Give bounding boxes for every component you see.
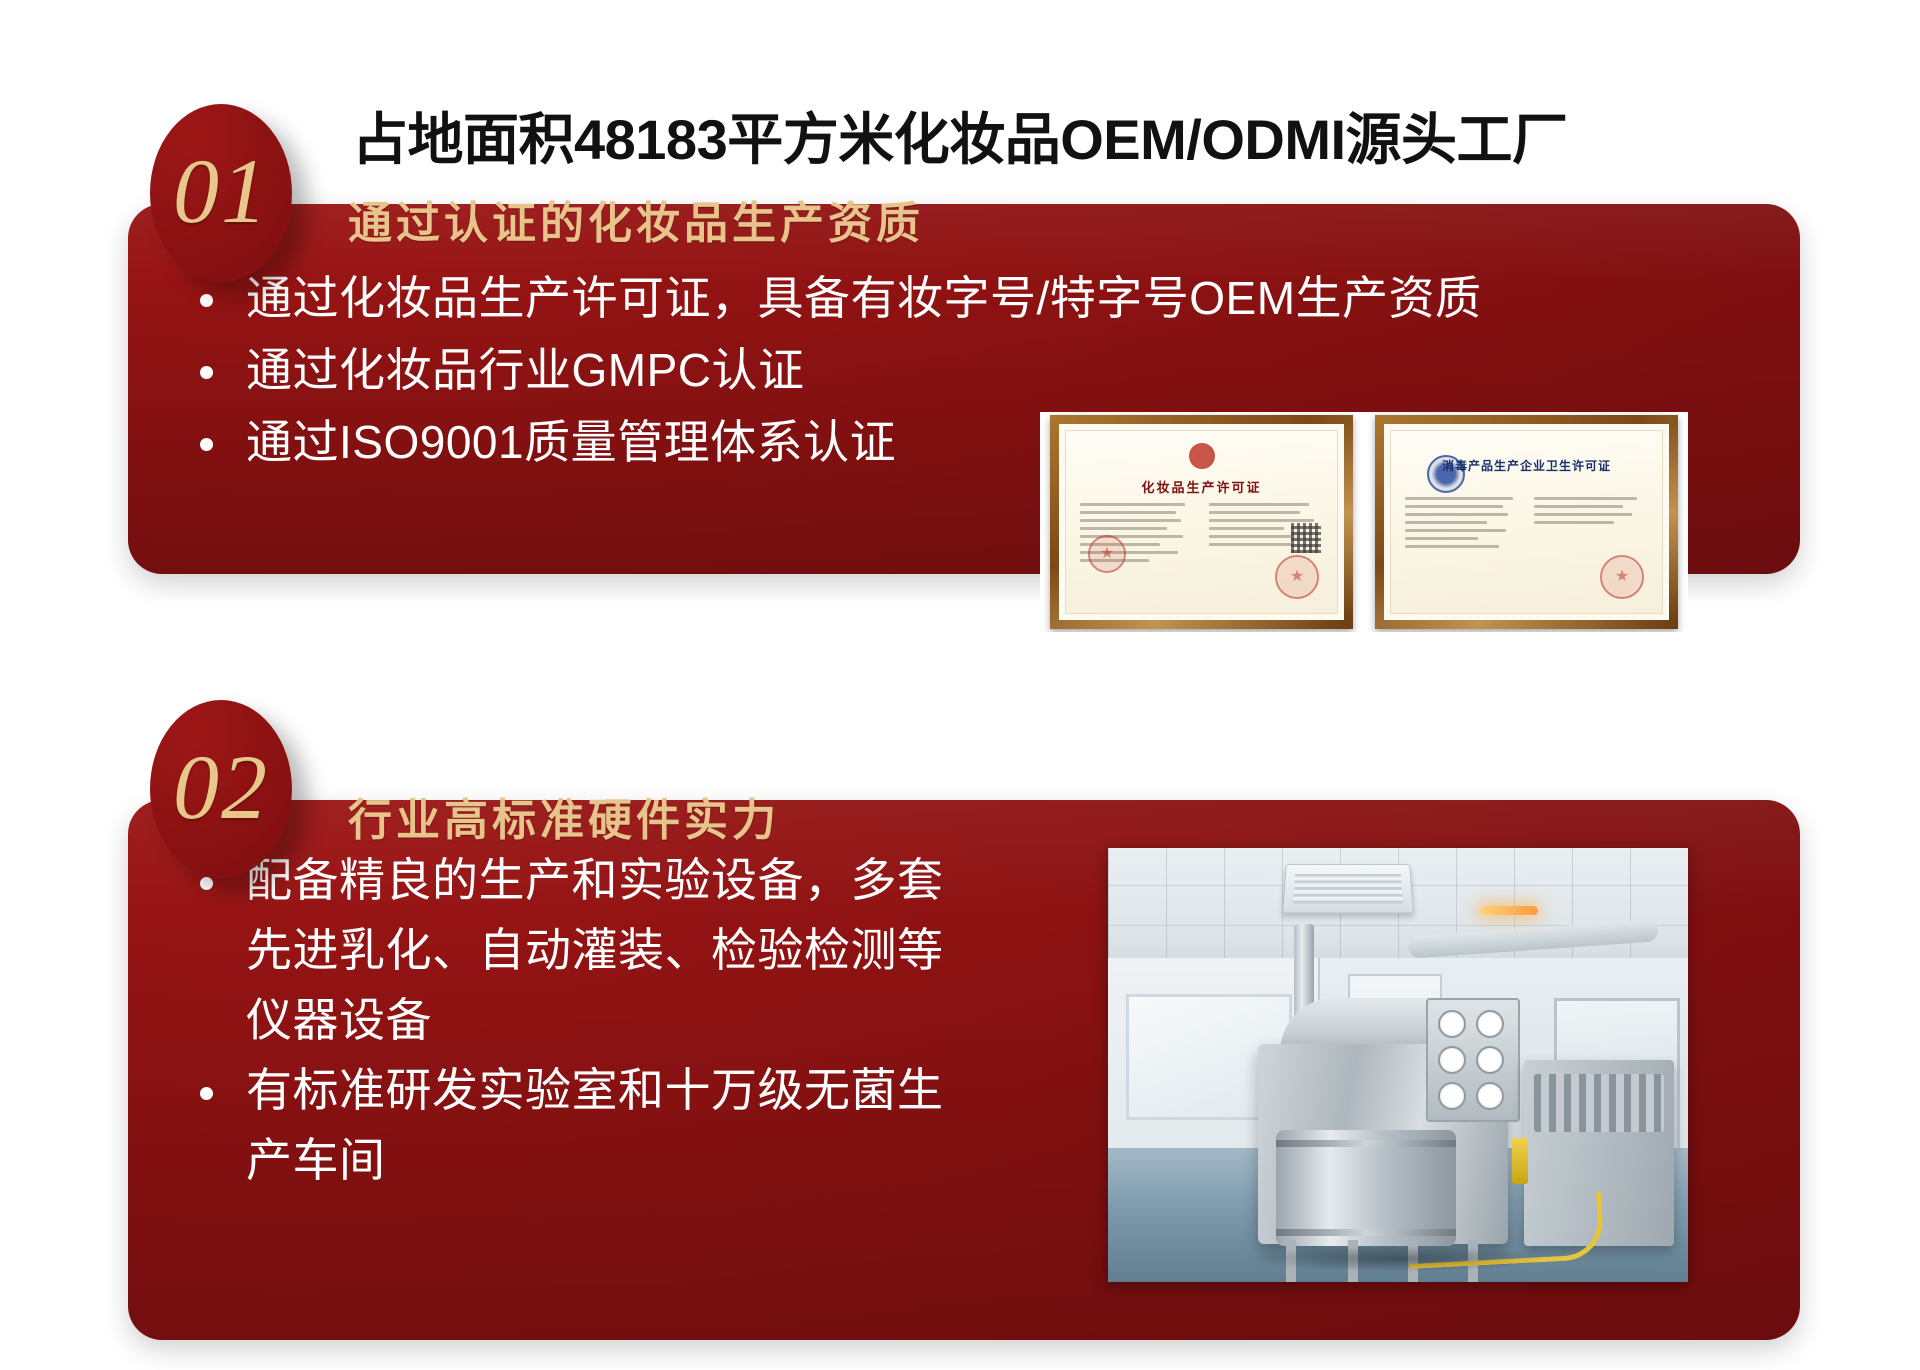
list-item: 通过化妆品生产许可证，具备有妆字号/特字号OEM生产资质 (192, 262, 1612, 334)
certificate-col-right (1534, 497, 1649, 548)
tank-ring (1276, 1140, 1456, 1147)
certificate-title: 消毒产品生产企业卫生许可证 (1391, 457, 1662, 474)
machine-floor-shadow (1248, 1246, 1548, 1272)
list-item-label: 配备精良的生产和实验设备，多套先进乳化、自动灌装、检验检测等仪器设备 (246, 854, 944, 1046)
workshop-photo (1108, 848, 1688, 1282)
red-official-seal-icon: ★ (1600, 555, 1644, 599)
section-01-subtitle: 通过认证的化妆品生产资质 (348, 198, 924, 250)
list-item-label: 有标准研发实验室和十万级无菌生产车间 (246, 1064, 944, 1186)
slide-canvas: 占地面积48183平方米化妆品OEM/ODMI源头工厂 01 通过认证的化妆品生… (0, 0, 1920, 1370)
list-item: 通过化妆品行业GMPC认证 (192, 334, 1612, 406)
list-item: 有标准研发实验室和十万级无菌生产车间 (192, 1055, 972, 1195)
section-02-subtitle: 行业高标准硬件实力 (348, 795, 780, 847)
gauge-icon (1438, 1082, 1466, 1110)
section-badge-02-number: 02 (173, 741, 269, 833)
bullet-dot-icon (200, 294, 213, 307)
section-badge-01: 01 (150, 104, 292, 282)
list-item: 配备精良的生产和实验设备，多套先进乳化、自动灌装、检验检测等仪器设备 (192, 845, 972, 1055)
gauge-icon (1476, 1010, 1504, 1038)
red-official-seal-icon: ★ (1088, 535, 1126, 573)
bullet-dot-icon (200, 1087, 213, 1100)
workshop-photo-scene (1108, 848, 1688, 1282)
certificate-frame-hygiene-license: 消毒产品生产企业卫生许可证 (1375, 415, 1678, 629)
list-item-label: 通过化妆品生产许可证，具备有妆字号/特字号OEM生产资质 (246, 272, 1482, 324)
control-panel (1426, 998, 1520, 1122)
warning-light-icon (1480, 906, 1538, 915)
gauge-icon (1476, 1082, 1504, 1110)
certificate-title: 化妆品生产许可证 (1066, 477, 1337, 496)
section-badge-01-number: 01 (173, 145, 269, 237)
page-title: 占地面积48183平方米化妆品OEM/ODMI源头工厂 (352, 108, 1568, 172)
red-official-seal-icon: ★ (1275, 555, 1319, 599)
certificate-frame-production-license: 化妆品生产许可证 (1050, 415, 1353, 629)
certificate-sheet: 消毒产品生产企业卫生许可证 (1390, 430, 1663, 614)
bullet-dot-icon (200, 366, 213, 379)
certificates-photo: 化妆品生产许可证 (1040, 412, 1688, 632)
list-item-label: 通过化妆品行业GMPC认证 (246, 344, 805, 396)
section-02-bullet-list: 配备精良的生产和实验设备，多套先进乳化、自动灌装、检验检测等仪器设备 有标准研发… (192, 845, 972, 1195)
qr-code-icon (1291, 523, 1321, 553)
certificate-sheet: 化妆品生产许可证 (1065, 430, 1338, 614)
gauge-icon (1438, 1046, 1466, 1074)
list-item-label: 通过ISO9001质量管理体系认证 (246, 416, 896, 468)
bullet-dot-icon (200, 438, 213, 451)
yellow-handheld-tool (1512, 1138, 1528, 1184)
certificate-col-left (1405, 497, 1520, 548)
section-badge-02: 02 (150, 700, 292, 878)
bullet-dot-icon (200, 877, 213, 890)
ceiling-ac-unit (1282, 864, 1414, 914)
gauge-icon (1476, 1046, 1504, 1074)
certificate-body-lines (1405, 497, 1648, 548)
gauge-icon (1438, 1010, 1466, 1038)
national-emblem-icon (1189, 443, 1215, 469)
